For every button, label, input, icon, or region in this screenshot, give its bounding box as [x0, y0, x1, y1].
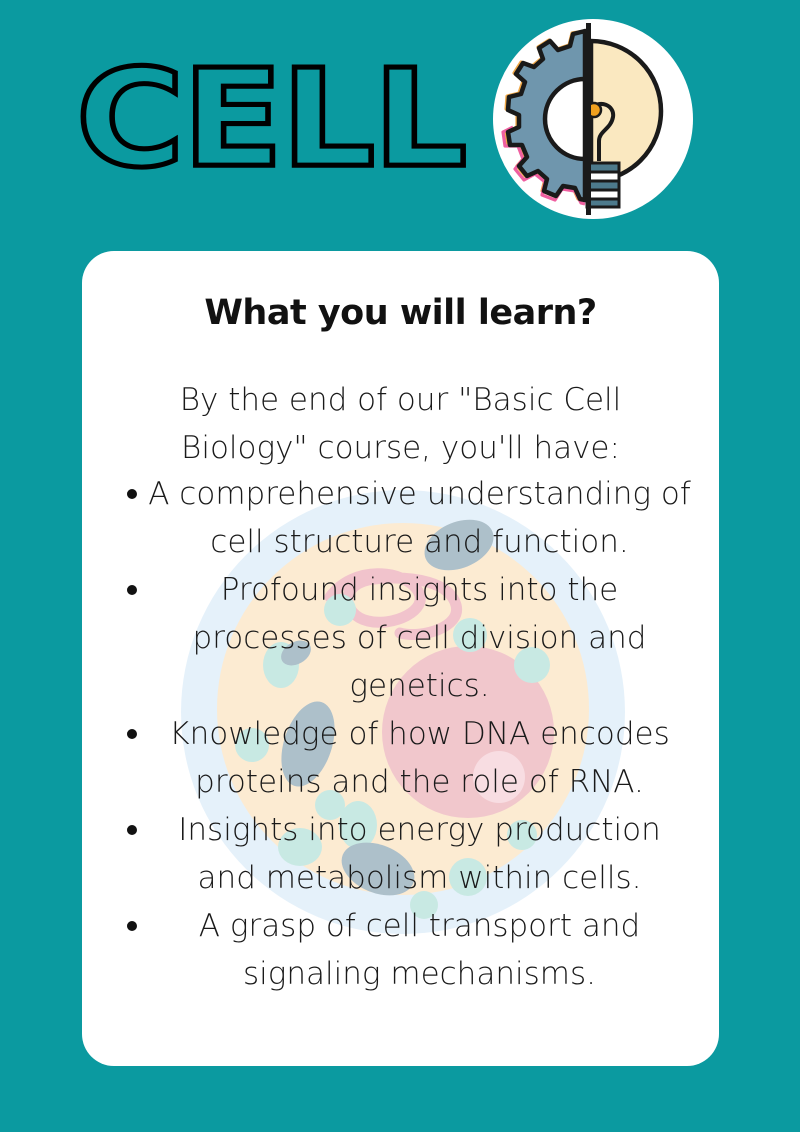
bullet-dot-icon — [127, 489, 137, 499]
list-item-label: A grasp of cell transport and signaling … — [199, 908, 640, 992]
list-item: Insights into energy production and meta… — [110, 806, 691, 902]
page-title: CELL — [76, 52, 465, 187]
learning-outcomes-list: A comprehensive understanding of cell st… — [110, 470, 691, 998]
bullet-dot-icon — [127, 825, 137, 835]
list-item: A comprehensive understanding of cell st… — [110, 470, 691, 566]
card-content: What you will learn? By the end of our "… — [82, 251, 719, 1066]
gear-lightbulb-badge-icon — [487, 13, 699, 225]
list-item-label: Knowledge of how DNA encodes proteins an… — [169, 716, 670, 800]
list-item-label: Profound insights into the processes of … — [193, 572, 647, 704]
poster-root: CELL — [0, 0, 800, 1132]
list-item: A grasp of cell transport and signaling … — [110, 902, 691, 998]
bullet-dot-icon — [127, 585, 137, 595]
bullet-dot-icon — [127, 921, 137, 931]
card-heading: What you will learn? — [82, 293, 719, 333]
list-item-label: A comprehensive understanding of cell st… — [148, 476, 691, 560]
bullet-dot-icon — [127, 729, 137, 739]
content-card: What you will learn? By the end of our "… — [82, 251, 719, 1066]
list-item: Profound insights into the processes of … — [110, 566, 691, 710]
poster-header: CELL — [0, 0, 800, 240]
list-item-label: Insights into energy production and meta… — [178, 812, 660, 896]
list-item: Knowledge of how DNA encodes proteins an… — [110, 710, 691, 806]
intro-paragraph: By the end of our "Basic Cell Biology" c… — [130, 376, 671, 472]
